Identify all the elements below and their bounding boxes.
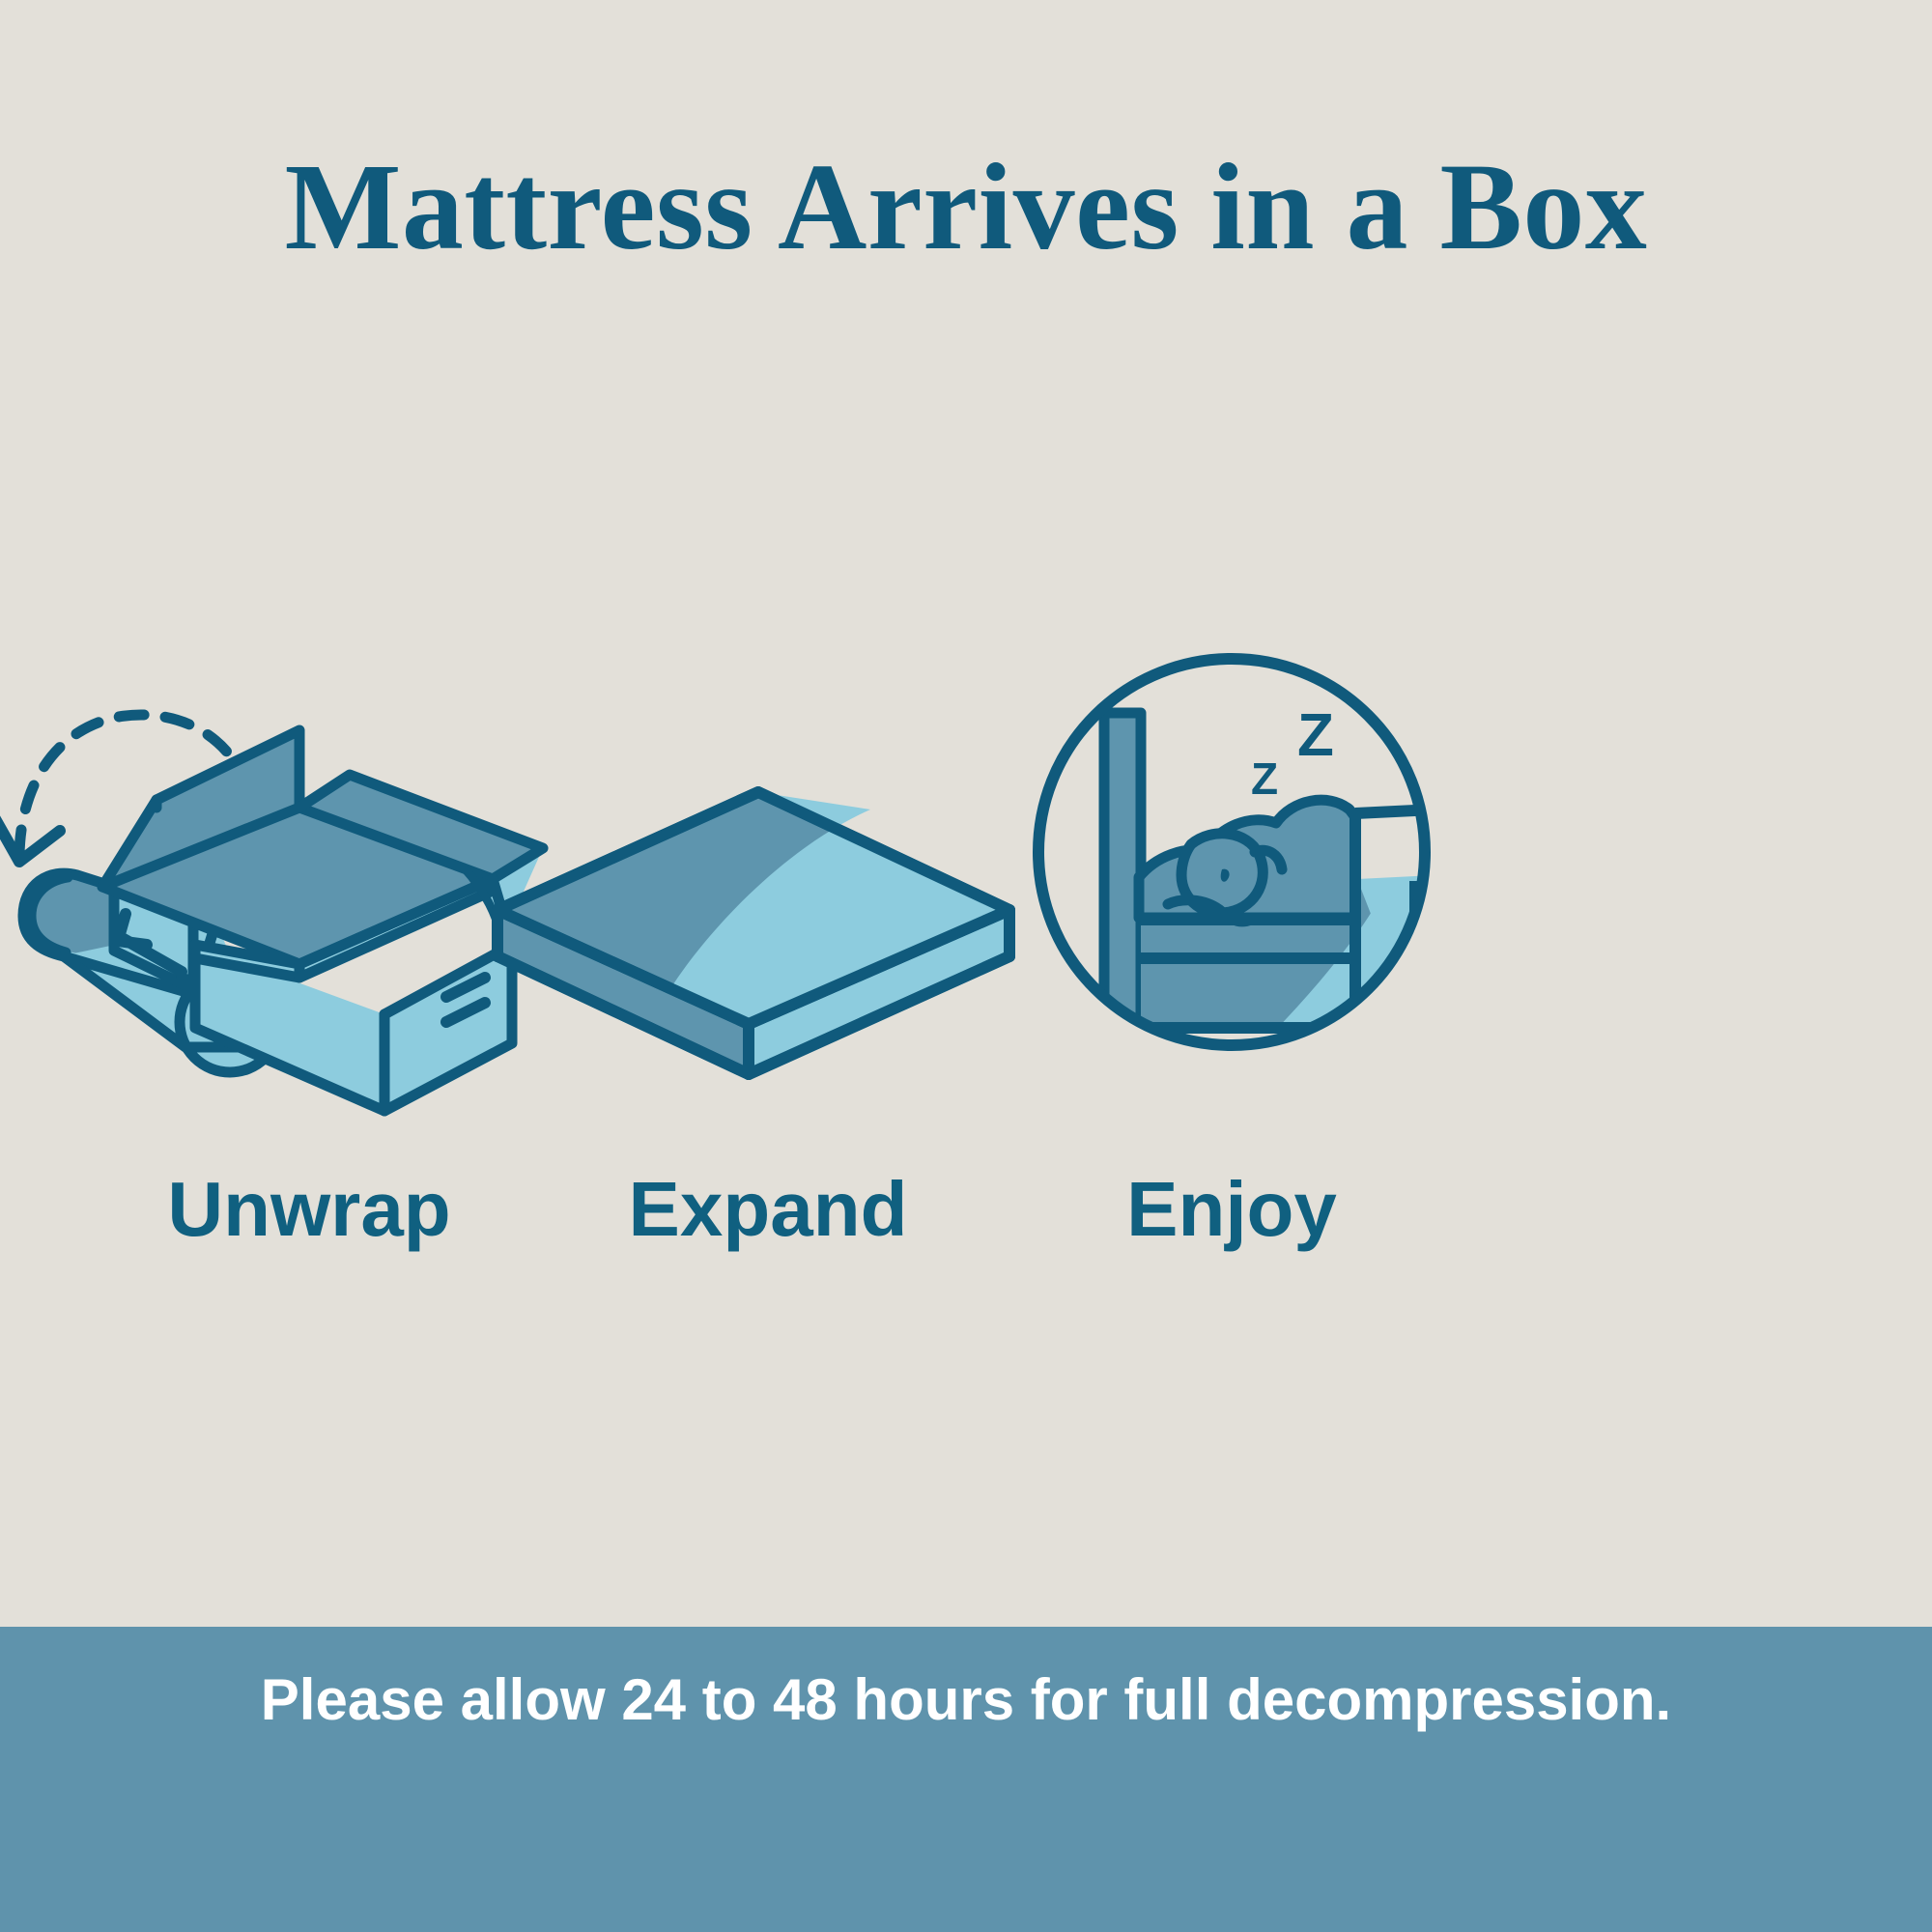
sleep-z-large: Z <box>1297 702 1334 769</box>
banner-text: Please allow 24 to 48 hours for full dec… <box>0 1671 1932 1729</box>
sleep-z-small: Z <box>1251 753 1278 804</box>
page-title: Mattress Arrives in a Box <box>0 145 1932 269</box>
enjoy-illustration: Z Z <box>932 638 1531 1101</box>
person-sleeping-in-bed-icon: Z Z <box>932 638 1531 1101</box>
poster-canvas: Mattress Arrives in a Box <box>0 0 1932 1932</box>
step-label-enjoy: Enjoy <box>932 1171 1531 1248</box>
step-enjoy: Z Z Enjoy <box>932 638 1531 1101</box>
decompression-banner: Please allow 24 to 48 hours for full dec… <box>0 1627 1932 1932</box>
